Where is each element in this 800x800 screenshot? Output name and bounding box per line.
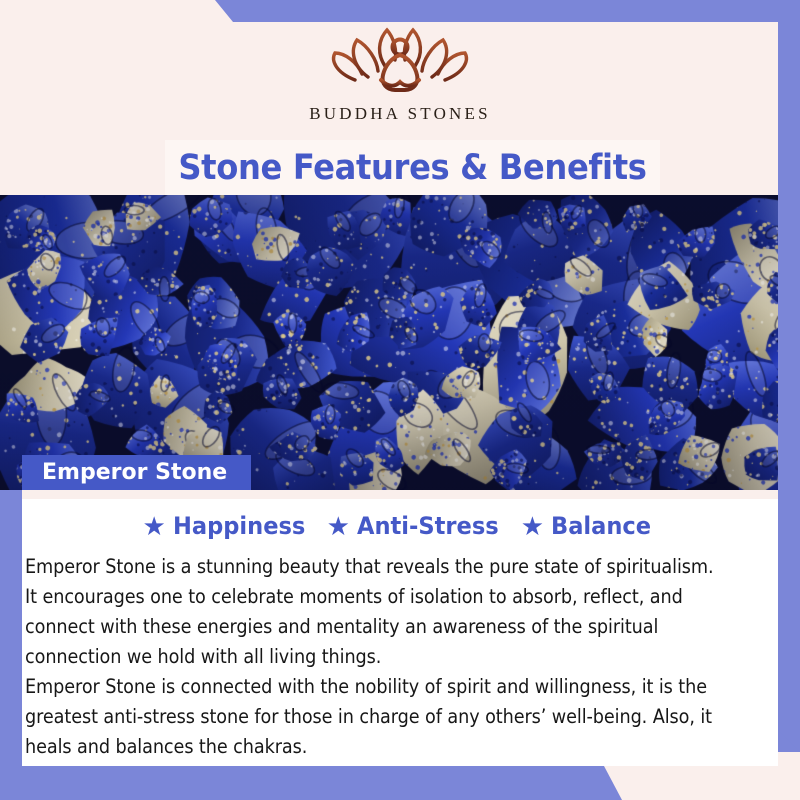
description-line: heals and balances the chakras. bbox=[25, 732, 706, 762]
stone-name-badge: Emperor Stone bbox=[22, 455, 251, 490]
description-line: greatest anti-stress stone for those in … bbox=[25, 702, 706, 732]
stone-photo-canvas bbox=[0, 195, 800, 490]
frame-right-band bbox=[778, 0, 800, 752]
page-title: Stone Features & Benefits bbox=[178, 148, 646, 188]
lotus-meditation-icon bbox=[315, 22, 485, 100]
page-title-band: Stone Features & Benefits bbox=[165, 140, 660, 195]
description-line: connection we hold with all living thing… bbox=[25, 642, 706, 672]
star-icon: ★ bbox=[142, 513, 165, 539]
star-icon: ★ bbox=[327, 513, 350, 539]
benefit-label: Balance bbox=[551, 512, 651, 540]
brand-name: BUDDHA STONES bbox=[309, 104, 491, 124]
description-text: Emperor Stone is a stunning beauty that … bbox=[25, 552, 777, 762]
content-panel: ★Happiness★Anti-Stress★Balance Emperor S… bbox=[22, 490, 778, 766]
star-icon: ★ bbox=[521, 513, 544, 539]
description-line: It encourages one to celebrate moments o… bbox=[25, 582, 706, 612]
benefit-item: ★Anti-Stress bbox=[327, 512, 508, 540]
benefit-item: ★Happiness bbox=[142, 512, 313, 540]
panel-top-strip bbox=[22, 490, 778, 499]
infographic-page: BUDDHA STONES Stone Features & Benefits … bbox=[0, 0, 800, 800]
description-line: Emperor Stone is connected with the nobi… bbox=[25, 672, 706, 702]
description-line: connect with these energies and mentalit… bbox=[25, 612, 706, 642]
benefits-row: ★Happiness★Anti-Stress★Balance bbox=[22, 512, 778, 540]
frame-bottom-band bbox=[0, 766, 800, 800]
frame-left-band bbox=[0, 490, 22, 768]
benefit-item: ★Balance bbox=[521, 512, 658, 540]
brand-logo: BUDDHA STONES bbox=[0, 22, 800, 124]
stone-name-label: Emperor Stone bbox=[42, 460, 227, 485]
benefit-label: Anti-Stress bbox=[357, 512, 499, 540]
hero-image bbox=[0, 195, 800, 490]
benefit-label: Happiness bbox=[173, 512, 305, 540]
description-line: Emperor Stone is a stunning beauty that … bbox=[25, 552, 706, 582]
